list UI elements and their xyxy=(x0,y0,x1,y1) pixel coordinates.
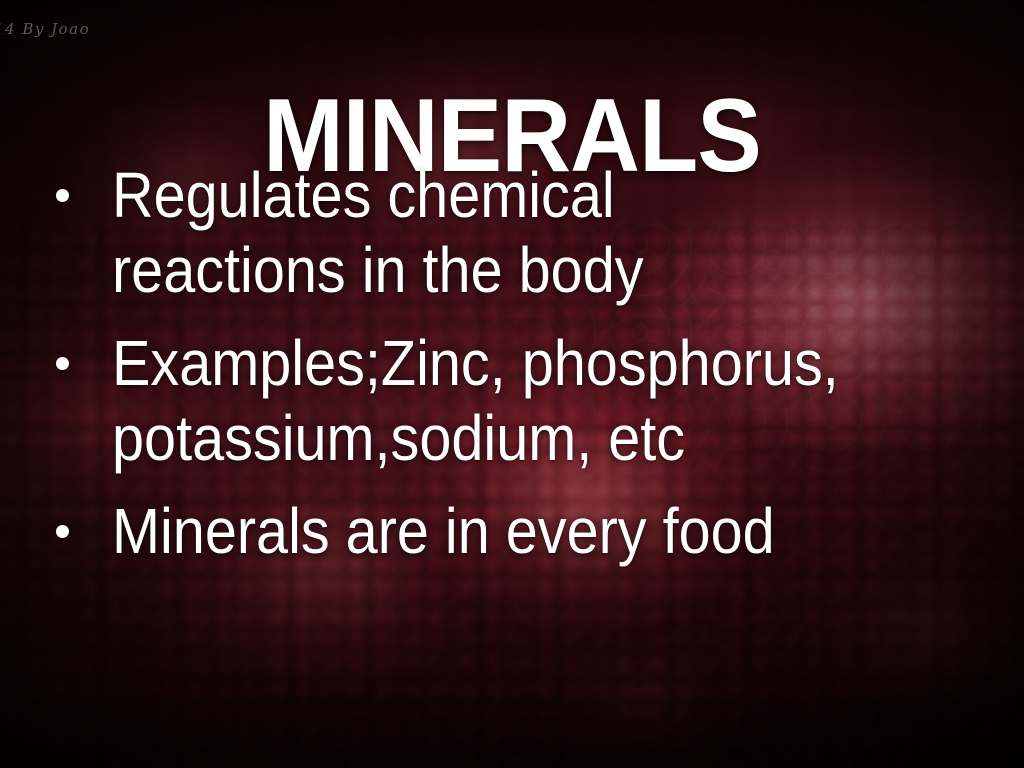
list-item: Minerals are in every food xyxy=(44,494,996,569)
bullet-point-icon xyxy=(44,158,112,202)
list-item: Examples;Zinc, phosphorus, potassium,sod… xyxy=(44,326,996,476)
bullet-list: Regulates chemical reactions in the body… xyxy=(44,158,996,586)
bullet-item-text: Regulates chemical reactions in the body xyxy=(112,158,908,308)
bullet-point-icon xyxy=(44,494,112,538)
list-item: Regulates chemical reactions in the body xyxy=(44,158,996,308)
presentation-slide: 14 By Joao MINERALS Regulates chemical r… xyxy=(0,0,1024,768)
bullet-item-text: Minerals are in every food xyxy=(112,494,908,569)
bullet-item-text: Examples;Zinc, phosphorus, potassium,sod… xyxy=(112,326,908,476)
slide-content: MINERALS Regulates chemical reactions in… xyxy=(0,0,1024,768)
bullet-point-icon xyxy=(44,326,112,370)
